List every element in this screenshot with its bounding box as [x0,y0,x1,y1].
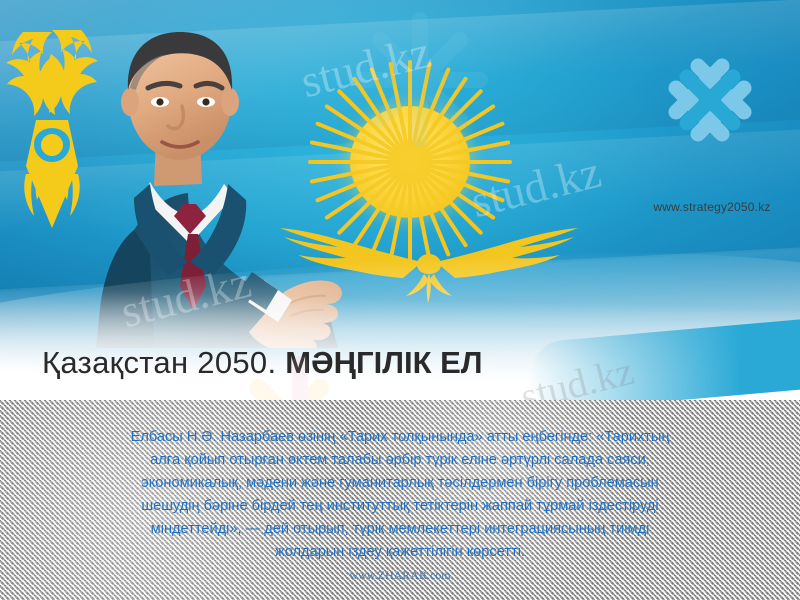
quote-line: жолдарын іздеу қажеттілігін көрсетті. [26,541,774,564]
quote-line: Елбасы Н.Ә. Назарбаев өзінің «Тарих толқ… [26,426,774,449]
quote-line: экономикалық, мәдени және гуманитарлық т… [26,472,774,495]
site-watermark: www.ZHARAR.com [0,568,800,583]
title-bold-part: МӘҢГІЛІК ЕЛ [285,345,482,380]
title-light-part: Қазақстан 2050. [42,345,276,380]
logo-url-label: www.strategy2050.kz [622,200,800,214]
kazakhstan-flag-background: www.strategy2050.kz stud.kz stud.kz stud… [0,0,800,400]
quote-panel: Елбасы Н.Ә. Назарбаев өзінің «Тарих толқ… [0,400,800,600]
quote-line: шешудің бәріне бірдей тең институттық те… [26,495,774,518]
quote-line: алға қойып отырған өктем талабы әрбір тү… [26,449,774,472]
strategy2050-logo[interactable] [646,36,774,164]
quote-text: Елбасы Н.Ә. Назарбаев өзінің «Тарих толқ… [26,426,774,564]
presentation-slide: www.strategy2050.kz stud.kz stud.kz stud… [0,0,800,600]
quote-line: міндеттейді», — дей отырып, түрік мемлек… [26,518,774,541]
slide-title: Қазақстан 2050. МӘҢГІЛІК ЕЛ [42,345,483,381]
